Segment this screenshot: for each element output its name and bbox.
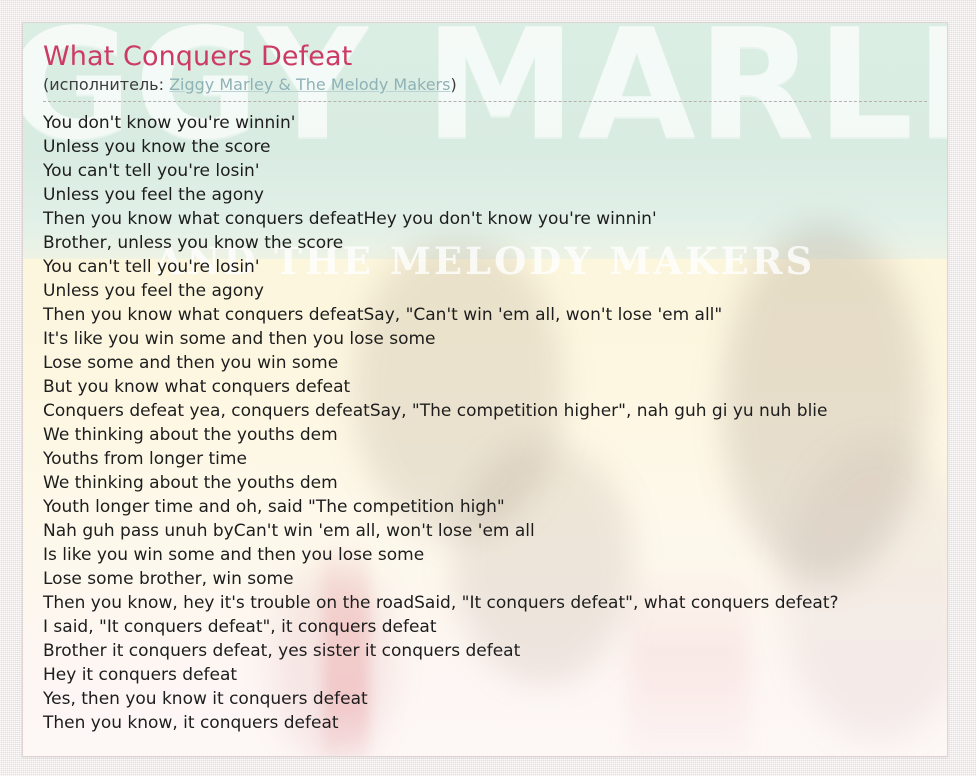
card-content: What Conquers Defeat (исполнитель: Ziggy… xyxy=(23,23,947,735)
lyric-line: Then you know what conquers defeatSay, "… xyxy=(43,303,927,327)
lyric-line: Yes, then you know it conquers defeat xyxy=(43,687,927,711)
lyric-line: I said, "It conquers defeat", it conquer… xyxy=(43,615,927,639)
lyric-line: Brother it conquers defeat, yes sister i… xyxy=(43,639,927,663)
lyric-line: You don't know you're winnin' xyxy=(43,111,927,135)
lyric-line: Is like you win some and then you lose s… xyxy=(43,543,927,567)
lyric-line: But you know what conquers defeat xyxy=(43,375,927,399)
lyrics-text: You don't know you're winnin'Unless you … xyxy=(43,102,927,735)
lyric-line: It's like you win some and then you lose… xyxy=(43,327,927,351)
lyric-line: You can't tell you're losin' xyxy=(43,255,927,279)
lyric-line: Then you know, it conquers defeat xyxy=(43,711,927,735)
lyrics-card: ZIGGY MARLEY AND THE MELODY MAKERS What … xyxy=(22,22,948,757)
lyric-line: Unless you feel the agony xyxy=(43,279,927,303)
lyric-line: Nah guh pass unuh byCan't win 'em all, w… xyxy=(43,519,927,543)
artist-suffix-label: ) xyxy=(450,75,456,94)
lyric-line: Youths from longer time xyxy=(43,447,927,471)
lyric-line: We thinking about the youths dem xyxy=(43,471,927,495)
lyric-line: Then you know what conquers defeatHey yo… xyxy=(43,207,927,231)
lyric-line: Then you know, hey it's trouble on the r… xyxy=(43,591,927,615)
lyric-line: Hey it conquers defeat xyxy=(43,663,927,687)
lyric-line: Conquers defeat yea, conquers defeatSay,… xyxy=(43,399,927,423)
artist-line: (исполнитель: Ziggy Marley & The Melody … xyxy=(43,74,927,102)
lyric-line: Brother, unless you know the score xyxy=(43,231,927,255)
lyric-line: Lose some and then you win some xyxy=(43,351,927,375)
lyric-line: Lose some brother, win some xyxy=(43,567,927,591)
artist-prefix-label: (исполнитель: xyxy=(43,75,164,94)
artist-link[interactable]: Ziggy Marley & The Melody Makers xyxy=(169,75,450,94)
lyric-line: Youth longer time and oh, said "The comp… xyxy=(43,495,927,519)
page-title: What Conquers Defeat xyxy=(43,41,927,73)
lyric-line: Unless you know the score xyxy=(43,135,927,159)
lyric-line: Unless you feel the agony xyxy=(43,183,927,207)
lyric-line: We thinking about the youths dem xyxy=(43,423,927,447)
lyric-line: You can't tell you're losin' xyxy=(43,159,927,183)
